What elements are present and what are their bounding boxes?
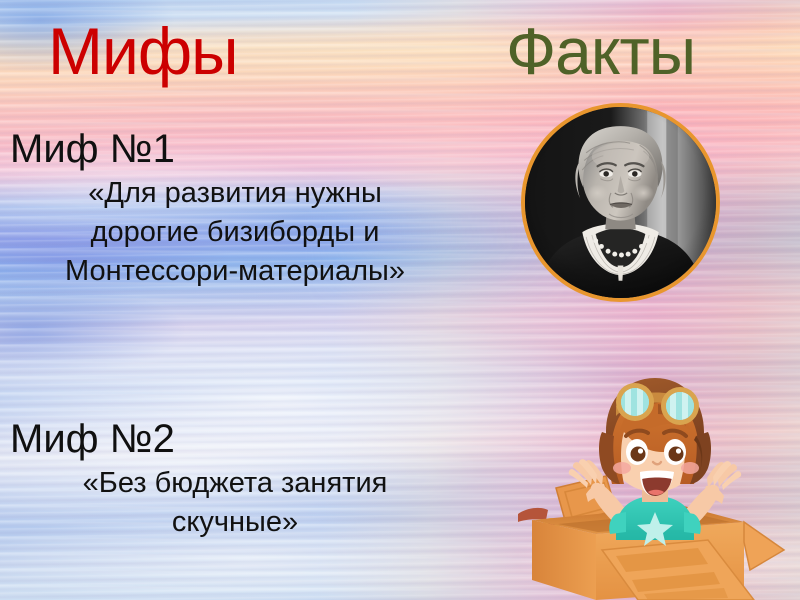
myth-2-quote-line-1: «Без бюджета занятия xyxy=(22,464,448,503)
myth-1-quote-line-2: дорогие бизиборды и xyxy=(22,213,448,252)
myth-2-quote-line-2: скучные» xyxy=(22,503,448,542)
myth-1-quote-line-3: Монтессори-материалы» xyxy=(22,252,448,291)
slide-canvas: Мифы Факты Миф №1 «Для развития нужны до… xyxy=(0,0,800,600)
child-in-cardboard-plane-image xyxy=(498,344,800,600)
montessori-portrait-image xyxy=(525,107,716,298)
myth-1-quote: «Для развития нужны дорогие бизиборды и … xyxy=(0,170,470,290)
montessori-portrait-frame xyxy=(521,103,720,302)
child-in-cardboard-plane-illustration xyxy=(498,344,800,600)
myth-block-2: Миф №2 «Без бюджета занятия скучные» xyxy=(0,418,470,542)
myth-1-quote-line-1: «Для развития нужны xyxy=(22,174,448,213)
myths-column-title: Мифы xyxy=(48,18,238,84)
facts-column-title: Факты xyxy=(506,18,695,84)
myth-2-heading: Миф №2 xyxy=(0,418,470,460)
myth-block-1: Миф №1 «Для развития нужны дорогие бизиб… xyxy=(0,128,470,290)
myth-1-heading: Миф №1 xyxy=(0,128,470,170)
myth-2-quote: «Без бюджета занятия скучные» xyxy=(0,460,470,541)
